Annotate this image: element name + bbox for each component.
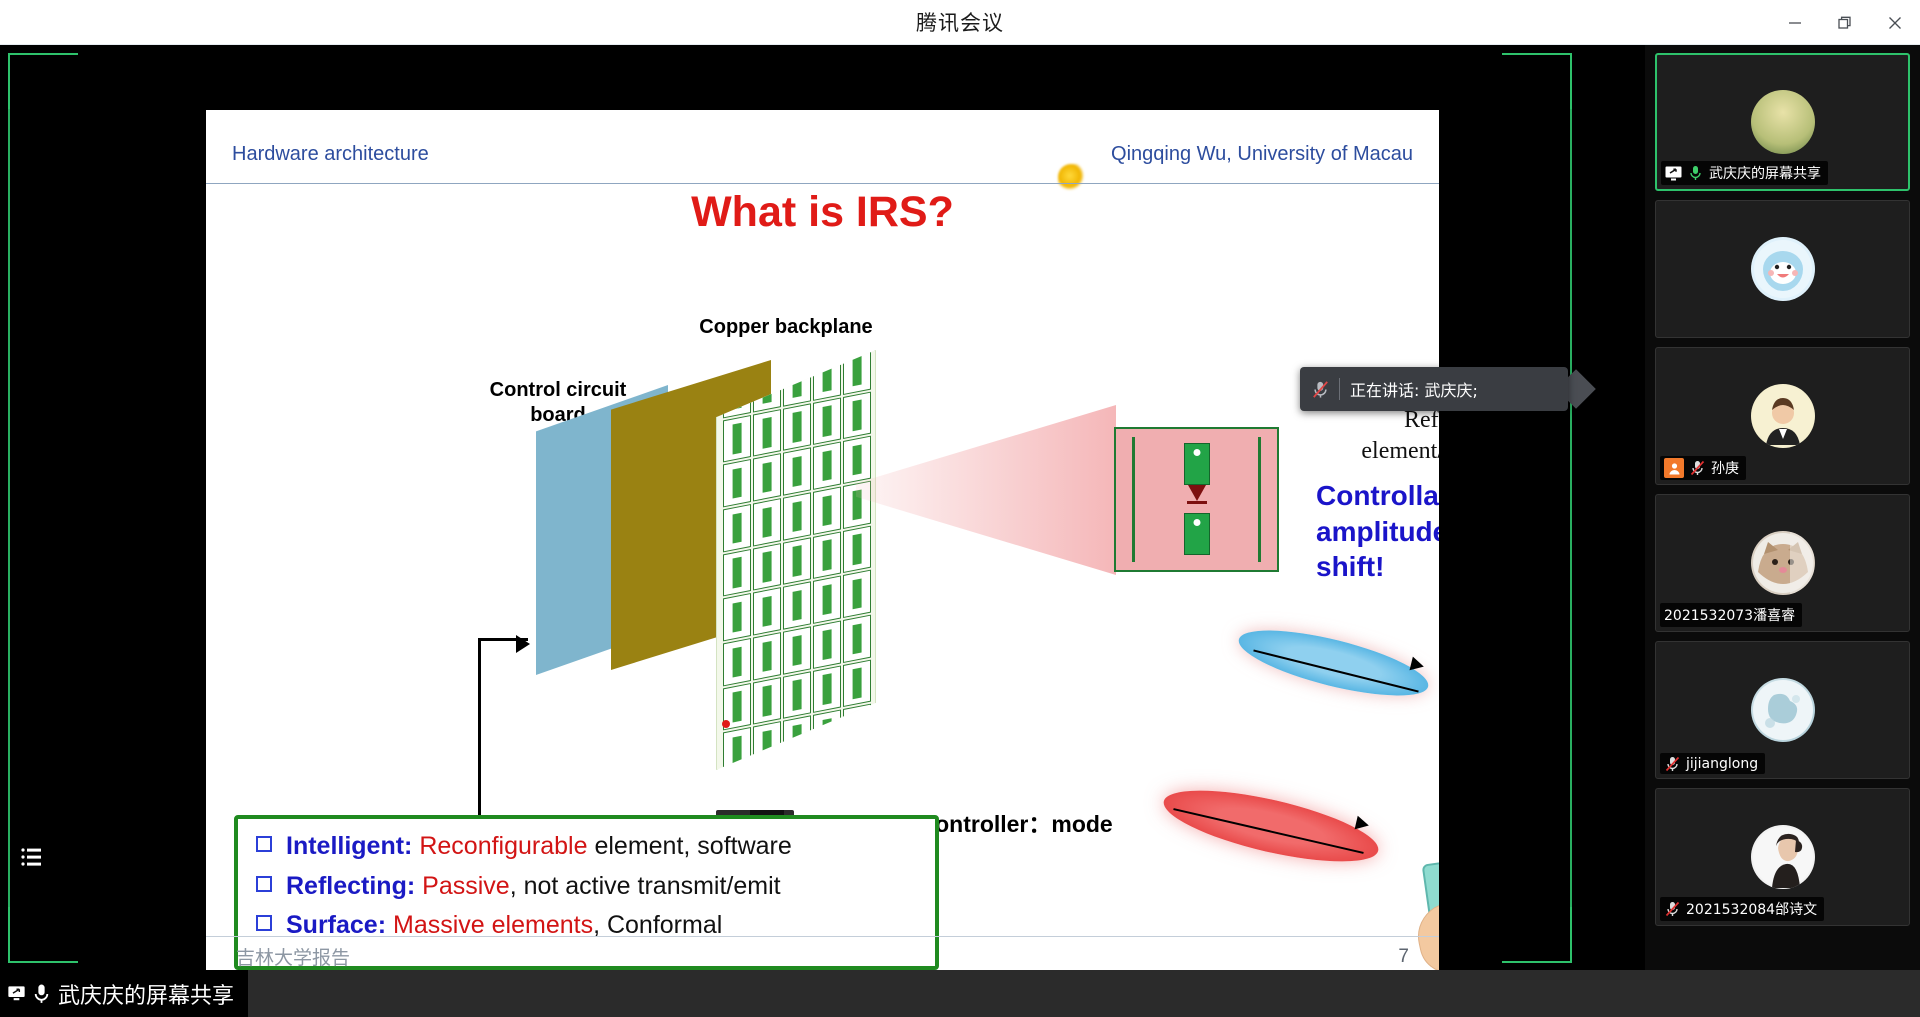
participant-name: jijianglong (1686, 756, 1758, 772)
screen-share-icon (8, 985, 25, 1002)
reflected-beam-blue (1233, 617, 1433, 709)
agenda-list-button[interactable] (10, 835, 54, 879)
avatar (1751, 384, 1815, 448)
avatar (1751, 90, 1815, 154)
participant-name-chip: 2021532084邰诗文 (1660, 897, 1824, 921)
avatar (1751, 237, 1815, 301)
participant-tile-0[interactable]: 武庆庆的屏幕共享 (1655, 53, 1910, 191)
close-button[interactable] (1870, 0, 1920, 45)
participant-name-chip: jijianglong (1660, 753, 1765, 774)
bullet-rest: , Conformal (593, 911, 722, 939)
bottom-share-label: 武庆庆的屏幕共享 (58, 978, 234, 1010)
copper-backplane-label: Copper backplane (676, 315, 896, 340)
participant-name: 孙庚 (1711, 458, 1739, 478)
bullet-key: Reflecting: (286, 872, 415, 900)
meta-atom-grid (723, 350, 871, 770)
slide-footer: 吉林大学报告 7 (206, 936, 1439, 970)
mic-muted-icon (1312, 381, 1329, 398)
mic-on-icon (33, 985, 50, 1002)
participant-tile-4[interactable]: jijianglong (1655, 641, 1910, 779)
mic-muted-icon (1689, 460, 1706, 477)
bullet-key: Intelligent: (286, 832, 412, 860)
avatar (1751, 678, 1815, 742)
minimize-button[interactable] (1770, 0, 1820, 45)
window-title: 腾讯会议 (916, 7, 1004, 37)
checkbox-icon (256, 915, 272, 931)
slide-author-label: Qingqing Wu, University of Macau (1111, 143, 1413, 166)
screen-share-icon (1665, 165, 1682, 182)
participant-name-chip: 2021532073潘喜睿 (1660, 603, 1802, 627)
metasurface-plane (716, 350, 876, 770)
slide-header: Hardware architecture Qingqing Wu, Unive… (206, 132, 1439, 184)
slide-footer-text: 吉林大学报告 (236, 943, 350, 970)
bottom-bar: 武庆庆的屏幕共享 (0, 970, 1920, 1017)
bullet-rest: element, software (588, 832, 792, 860)
slide-title: What is IRS? (206, 188, 1439, 237)
window-controls (1770, 0, 1920, 45)
mic-muted-icon (1664, 901, 1681, 918)
zoom-cone (856, 405, 1116, 575)
participant-tile-1[interactable] (1655, 200, 1910, 338)
participant-name: 武庆庆的屏幕共享 (1709, 163, 1821, 183)
mic-muted-icon (1664, 755, 1681, 772)
bottom-share-indicator[interactable]: 武庆庆的屏幕共享 (0, 970, 248, 1017)
speaking-tooltip-text: 正在讲话: 武庆庆; (1350, 377, 1478, 401)
speaking-tooltip: 正在讲话: 武庆庆; (1300, 367, 1568, 411)
participant-name-chip: 孙庚 (1660, 456, 1746, 480)
controllable-callout: Controllable reflection amplitude and ph… (1316, 478, 1439, 585)
beam-arrowhead-lower-icon (1355, 816, 1371, 833)
participant-name-chip: 武庆庆的屏幕共享 (1661, 161, 1828, 185)
title-bar: 腾讯会议 (0, 0, 1920, 45)
bullet-rest: , not active transmit/emit (510, 872, 781, 900)
shared-screen-stage[interactable]: Hardware architecture Qingqing Wu, Unive… (0, 45, 1645, 970)
participant-tile-3[interactable]: 2021532073潘喜睿 (1655, 494, 1910, 632)
controller-arrow-icon (516, 635, 530, 653)
participant-name: 2021532073潘喜睿 (1664, 605, 1795, 625)
bullet-highlight: Reconfigurable (419, 832, 587, 860)
participant-tile-5[interactable]: 2021532084邰诗文 (1655, 788, 1910, 926)
slide-section-label: Hardware architecture (232, 143, 429, 166)
avatar (1751, 825, 1815, 889)
maximize-restore-button[interactable] (1820, 0, 1870, 45)
slide-page-number: 7 (1398, 946, 1409, 968)
meeting-body: Hardware architecture Qingqing Wu, Unive… (0, 45, 1920, 970)
host-badge (1664, 458, 1684, 478)
reflecting-element-diagram (1114, 427, 1279, 572)
list-icon (19, 844, 45, 870)
bullet-item: Intelligent: Reconfigurable element, sof… (256, 833, 935, 861)
bullet-key: Surface: (286, 911, 386, 939)
participant-tile-2[interactable]: 孙庚 (1655, 347, 1910, 485)
reflected-beam-red (1158, 776, 1384, 876)
participant-name: 2021532084邰诗文 (1686, 899, 1817, 919)
reflecting-element-label: Reflecting element/meta-atom (1304, 405, 1439, 467)
bullet-highlight: Massive elements (393, 911, 593, 939)
presentation-slide: Hardware architecture Qingqing Wu, Unive… (206, 110, 1439, 970)
tencent-meeting-window: 腾讯会议 (0, 0, 1920, 1017)
bullet-highlight: Passive (422, 872, 510, 900)
mic-on-icon (1687, 165, 1704, 182)
checkbox-icon (256, 836, 272, 852)
checkbox-icon (256, 876, 272, 892)
participant-rail[interactable]: 武庆庆的屏幕共享 (1645, 45, 1920, 970)
beam-arrowhead-upper-icon (1409, 657, 1425, 674)
avatar (1751, 531, 1815, 595)
bullet-item: Reflecting: Passive, not active transmit… (256, 873, 935, 901)
